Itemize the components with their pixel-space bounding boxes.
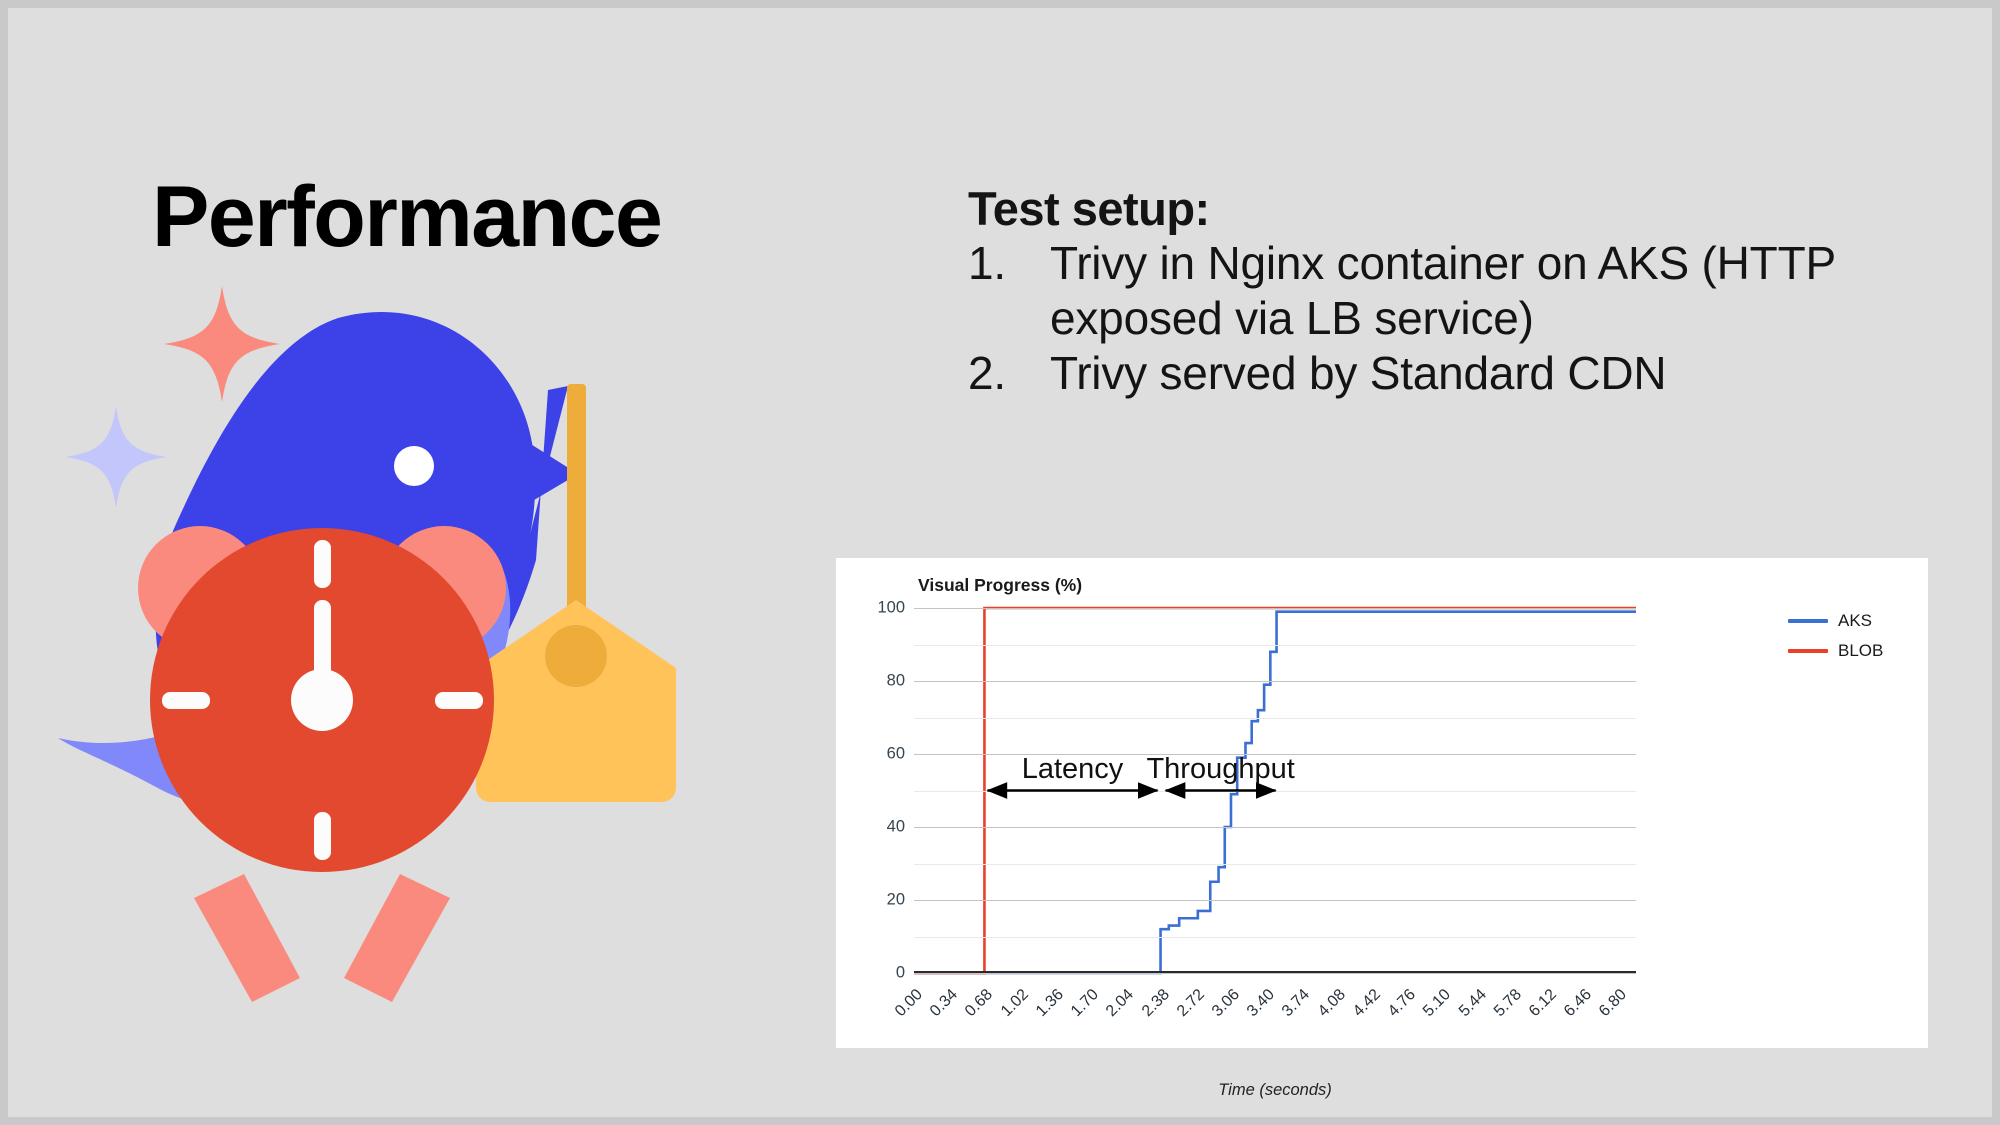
x-axis-tick-label: 2.72 — [1174, 986, 1209, 1021]
clock-center-hub — [291, 669, 353, 731]
x-axis-tick-label: 6.46 — [1561, 986, 1596, 1021]
gridline-major — [914, 608, 1636, 609]
y-axis-tick-label: 20 — [887, 891, 905, 910]
x-axis-tick-label: 5.10 — [1420, 986, 1455, 1021]
x-axis-tick-label: 3.40 — [1244, 986, 1279, 1021]
bird-eye-icon — [394, 446, 434, 486]
illustration-bird-alarm-clock — [48, 278, 808, 1038]
x-axis-tick-label: 1.02 — [998, 986, 1033, 1021]
slide-frame: Performance — [0, 0, 2000, 1125]
series-line-aks — [914, 612, 1636, 973]
test-setup-block: Test setup: 1. Trivy in Nginx container … — [968, 183, 1928, 401]
legend-label-aks: AKS — [1838, 611, 1872, 631]
x-axis-title: Time (seconds) — [914, 1081, 1636, 1100]
x-axis-tick-label: 1.70 — [1068, 986, 1103, 1021]
y-axis-tick-label: 60 — [887, 745, 905, 764]
tag-hole — [545, 625, 607, 687]
gridline-major — [914, 973, 1636, 974]
x-axis-tick-label: 2.38 — [1139, 986, 1174, 1021]
gridline-minor — [914, 791, 1636, 792]
list-number: 2. — [968, 346, 1050, 401]
clock-tick-9 — [162, 692, 210, 709]
clock-tick-3 — [435, 692, 483, 709]
annotation-label-throughput: Throughput — [1146, 753, 1294, 786]
sparkle-blue-icon — [65, 406, 167, 508]
clock-tick-6 — [314, 812, 331, 860]
list-text: Trivy in Nginx container on AKS (HTTP ex… — [1050, 236, 1928, 346]
legend-item-aks[interactable]: AKS — [1788, 606, 1883, 636]
gridline-major — [914, 681, 1636, 682]
annotation-label-latency: Latency — [1022, 753, 1124, 786]
slide-canvas: Performance — [8, 8, 1992, 1117]
gridline-minor — [914, 718, 1636, 719]
x-axis-tick-label: 5.78 — [1491, 986, 1526, 1021]
test-setup-heading: Test setup: — [968, 183, 1928, 236]
x-axis-tick-label: 3.06 — [1209, 986, 1244, 1021]
gridline-major — [914, 900, 1636, 901]
y-axis-tick-label: 40 — [887, 818, 905, 837]
x-axis-tick-label: 5.44 — [1455, 986, 1490, 1021]
x-axis-tick-label: 2.04 — [1103, 986, 1138, 1021]
illustration-svg — [48, 278, 808, 1038]
list-text: Trivy served by Standard CDN — [1050, 346, 1928, 401]
gridline-minor — [914, 864, 1636, 865]
x-axis-tick-label: 0.34 — [927, 986, 962, 1021]
test-setup-item-2: 2. Trivy served by Standard CDN — [968, 346, 1928, 401]
chart-title: Visual Progress (%) — [918, 575, 1082, 596]
plot-area: Time (seconds) 0204060801000.000.340.681… — [914, 608, 1636, 973]
x-axis-tick-label: 6.80 — [1596, 986, 1631, 1021]
test-setup-item-1: 1. Trivy in Nginx container on AKS (HTTP… — [968, 236, 1928, 346]
clock-leg-right — [344, 874, 450, 1002]
clock-leg-left — [194, 874, 300, 1002]
x-axis-tick-label: 3.74 — [1279, 986, 1314, 1021]
chart-panel: Visual Progress (%) Time (seconds) 02040… — [836, 558, 1928, 1048]
x-axis-tick-label: 4.42 — [1350, 986, 1385, 1021]
gridline-major — [914, 827, 1636, 828]
legend-swatch-blob — [1788, 649, 1828, 653]
list-number: 1. — [968, 236, 1050, 346]
legend-swatch-aks — [1788, 619, 1828, 623]
clock-tick-12 — [314, 540, 331, 588]
x-axis-tick-label: 6.12 — [1526, 986, 1561, 1021]
legend-label-blob: BLOB — [1838, 641, 1883, 661]
x-axis-tick-label: 4.08 — [1315, 986, 1350, 1021]
y-axis-tick-label: 80 — [887, 672, 905, 691]
x-axis-tick-label: 4.76 — [1385, 986, 1420, 1021]
y-axis-tick-label: 0 — [896, 964, 905, 983]
gridline-minor — [914, 645, 1636, 646]
chart-legend: AKS BLOB — [1788, 606, 1883, 666]
x-axis-tick-label: 1.36 — [1033, 986, 1068, 1021]
legend-item-blob[interactable]: BLOB — [1788, 636, 1883, 666]
page-title: Performance — [152, 174, 661, 260]
gridline-minor — [914, 937, 1636, 938]
x-axis-tick-label: 0.00 — [892, 986, 927, 1021]
x-axis-tick-label: 0.68 — [962, 986, 997, 1021]
y-axis-tick-label: 100 — [877, 599, 905, 618]
